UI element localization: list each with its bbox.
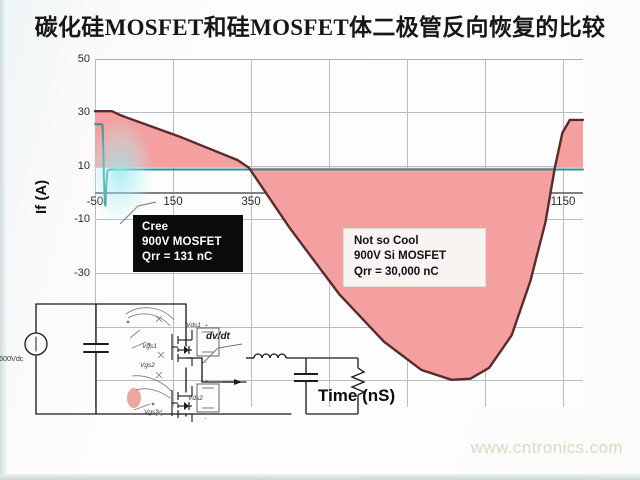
y-tick-label: 30 (78, 106, 90, 118)
page-title: 碳化硅MOSFET和硅MOSFET体二极管反向恢复的比较 (0, 8, 640, 42)
svg-text:+: + (205, 379, 208, 385)
y-tick-label: 10 (78, 160, 90, 172)
si-callout-line-2: 900V Si MOSFET (354, 249, 475, 264)
power-stage-schematic: + - + - (6, 286, 426, 426)
y-axis-label: If (A) (33, 180, 50, 214)
si-callout-line-1: Not so Cool (354, 234, 475, 249)
si-callout-line-3: Qrr = 30,000 nC (354, 265, 475, 280)
bottom-edge-strip (0, 474, 640, 480)
y-tick-label: -30 (74, 267, 90, 279)
y-tick-label: -10 (74, 213, 90, 225)
sic-callout-leader (118, 196, 158, 226)
slide-root: 碳化硅MOSFET和硅MOSFET体二极管反向恢复的比较 50 30 10 -1… (0, 0, 640, 480)
si-callout-box: Not so Cool 900V Si MOSFET Qrr = 30,000 … (343, 228, 486, 287)
watermark: www.cntronics.com (471, 438, 623, 458)
sic-callout-line-2: 900V MOSFET (142, 235, 234, 250)
svg-text:+: + (205, 323, 208, 329)
sic-callout-line-3: Qrr = 131 nC (142, 250, 234, 265)
y-tick-label: 50 (78, 53, 90, 65)
svg-text:-: - (205, 416, 207, 422)
gate-ring-highlight (127, 388, 141, 408)
